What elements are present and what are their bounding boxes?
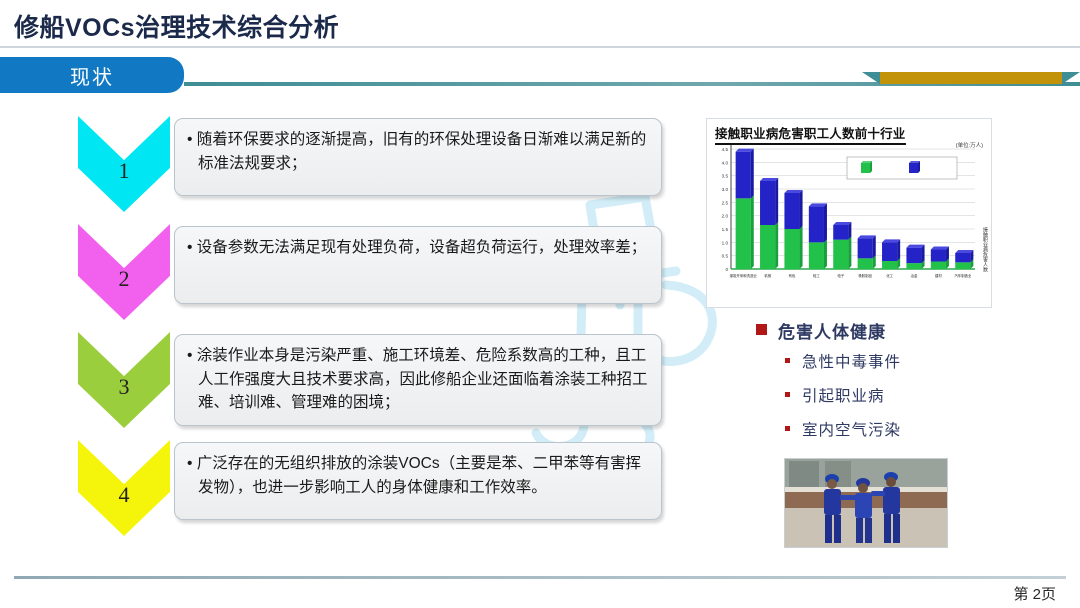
- chevron-number-3: 3: [78, 374, 170, 400]
- section-tab[interactable]: 现状: [0, 57, 184, 93]
- bullet-item-2: 引起职业病: [802, 384, 885, 406]
- svg-text:4.5: 4.5: [722, 147, 729, 152]
- step-text-box-2: 设备参数无法满足现有处理负荷，设备超负荷运行，处理效率差；: [174, 226, 662, 304]
- svg-text:电子: 电子: [837, 273, 844, 278]
- svg-text:轻工: 轻工: [813, 273, 820, 278]
- svg-text:2.5: 2.5: [722, 200, 729, 205]
- bullet-item-3: 室内空气污染: [802, 418, 901, 440]
- step-text-1: 随着环保要求的逐渐提高，旧有的环保处理设备日渐难以满足新的标准法规要求；: [187, 128, 651, 175]
- svg-text:冶金: 冶金: [911, 273, 918, 278]
- ribbon-right-end: [1062, 72, 1080, 84]
- right-panel: 接触职业病危害职工人数前十行业 (单位:万人) 接触职业病危害人数 00.51.…: [706, 118, 998, 558]
- svg-text:4.0: 4.0: [722, 160, 729, 165]
- svg-text:汽车制造业: 汽车制造业: [954, 273, 972, 278]
- step-text-box-3: 涂装作业本身是污染严重、施工环境差、危险系数高的工种，且工人工作强度大且技术要求…: [174, 334, 662, 426]
- bullet-heading: 危害人体健康: [778, 318, 886, 343]
- ribbon-bar: [880, 72, 1062, 84]
- title-divider: [0, 46, 1080, 48]
- svg-text:建材: 建材: [935, 273, 942, 278]
- chevron-number-2: 2: [78, 266, 170, 292]
- svg-text:1.0: 1.0: [722, 240, 729, 245]
- step-text-box-4: 广泛存在的无组织排放的涂装VOCs（主要是苯、二甲苯等有害挥发物），也进一步影响…: [174, 442, 662, 520]
- bullet-heading-marker: [756, 324, 767, 335]
- svg-text:橡胶制品: 橡胶制品: [858, 273, 872, 278]
- chevron-number-4: 4: [78, 482, 170, 508]
- list-item: 4 广泛存在的无组织排放的涂装VOCs（主要是苯、二甲苯等有害挥发物），也进一步…: [78, 440, 678, 540]
- svg-text:0: 0: [725, 267, 728, 272]
- chart-plot-area: 00.51.01.52.02.53.03.54.04.5煤炭开采和洗选业机械有色…: [707, 119, 992, 308]
- bullet-item-1: 急性中毒事件: [802, 350, 901, 372]
- page-title: 修船VOCs治理技术综合分析: [14, 8, 339, 44]
- footer-divider: [14, 576, 1066, 579]
- ribbon-left-end: [862, 72, 880, 84]
- svg-text:3.5: 3.5: [722, 174, 729, 179]
- svg-text:机械: 机械: [764, 273, 771, 278]
- list-item: 2 设备参数无法满足现有处理负荷，设备超负荷运行，处理效率差；: [78, 224, 678, 324]
- step-text-2: 设备参数无法满足现有处理负荷，设备超负荷运行，处理效率差；: [187, 236, 651, 260]
- svg-text:1.5: 1.5: [722, 227, 729, 232]
- occupational-disease-chart: 接触职业病危害职工人数前十行业 (单位:万人) 接触职业病危害人数 00.51.…: [706, 118, 992, 308]
- list-item: 1 随着环保要求的逐渐提高，旧有的环保处理设备日渐难以满足新的标准法规要求；: [78, 116, 678, 216]
- svg-text:2.0: 2.0: [722, 214, 729, 219]
- svg-text:有色: 有色: [789, 273, 796, 278]
- svg-text:3.0: 3.0: [722, 187, 729, 192]
- step-text-3: 涂装作业本身是污染严重、施工环境差、危险系数高的工种，且工人工作强度大且技术要求…: [187, 344, 651, 415]
- chart-unit-label: (单位:万人): [956, 141, 983, 149]
- chart-right-axis-label: 接触职业病危害人数: [982, 227, 989, 272]
- steps-list: 1 随着环保要求的逐渐提高，旧有的环保处理设备日渐难以满足新的标准法规要求； 2…: [78, 116, 678, 544]
- step-text-box-1: 随着环保要求的逐渐提高，旧有的环保处理设备日渐难以满足新的标准法规要求；: [174, 118, 662, 196]
- workers-photo: [784, 458, 948, 548]
- chevron-number-1: 1: [78, 158, 170, 184]
- svg-text:0.5: 0.5: [722, 254, 729, 259]
- decorative-ribbon: [862, 64, 1080, 92]
- svg-text:煤炭开采和洗选业: 煤炭开采和洗选业: [730, 273, 758, 278]
- chart-title: 接触职业病危害职工人数前十行业: [715, 123, 906, 145]
- step-text-4: 广泛存在的无组织排放的涂装VOCs（主要是苯、二甲苯等有害挥发物），也进一步影响…: [187, 452, 651, 499]
- svg-text:化工: 化工: [886, 273, 893, 278]
- list-item: 3 涂装作业本身是污染严重、施工环境差、危险系数高的工种，且工人工作强度大且技术…: [78, 332, 678, 432]
- section-tab-label: 现状: [70, 61, 114, 90]
- page-number: 第 2页: [1013, 583, 1056, 604]
